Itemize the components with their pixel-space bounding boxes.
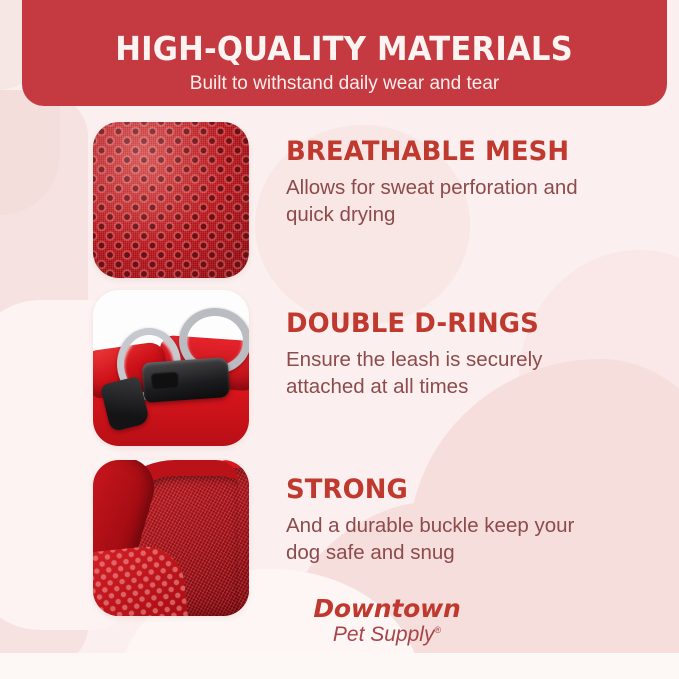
- feature-description: Ensure the leash is securely attached at…: [286, 346, 606, 400]
- feature-description: And a durable buckle keep your dog safe …: [286, 512, 606, 566]
- feature-heading: STRONG: [286, 476, 593, 503]
- feature-description: Allows for sweat perforation and quick d…: [286, 174, 606, 228]
- buckle-notch: [150, 371, 179, 390]
- breathable-mesh-image: [93, 122, 249, 278]
- brand-logo: Downtown Pet Supply®: [272, 596, 502, 645]
- feature-row: DOUBLE D-RINGS Ensure the leash is secur…: [93, 290, 623, 446]
- brand-tagline: Pet Supply®: [272, 624, 502, 645]
- feature-heading: DOUBLE D-RINGS: [286, 310, 593, 337]
- double-d-rings-image: [93, 290, 249, 446]
- mesh-sheen: [93, 122, 249, 278]
- feature-text: DOUBLE D-RINGS Ensure the leash is secur…: [286, 290, 606, 400]
- padded-panel-image: [93, 460, 249, 616]
- feature-row: STRONG And a durable buckle keep your do…: [93, 460, 623, 616]
- brand-tagline-text: Pet Supply: [333, 623, 435, 646]
- black-buckle: [142, 357, 231, 403]
- brand-name: Downtown: [272, 596, 502, 621]
- registered-trademark-icon: ®: [434, 625, 441, 635]
- feature-text: STRONG And a durable buckle keep your do…: [286, 460, 606, 566]
- feature-list: BREATHABLE MESH Allows for sweat perfora…: [0, 0, 679, 679]
- infographic-page: HIGH-QUALITY MATERIALS Built to withstan…: [0, 0, 679, 679]
- feature-text: BREATHABLE MESH Allows for sweat perfora…: [286, 122, 606, 228]
- feature-heading: BREATHABLE MESH: [286, 138, 593, 165]
- feature-row: BREATHABLE MESH Allows for sweat perfora…: [93, 122, 623, 278]
